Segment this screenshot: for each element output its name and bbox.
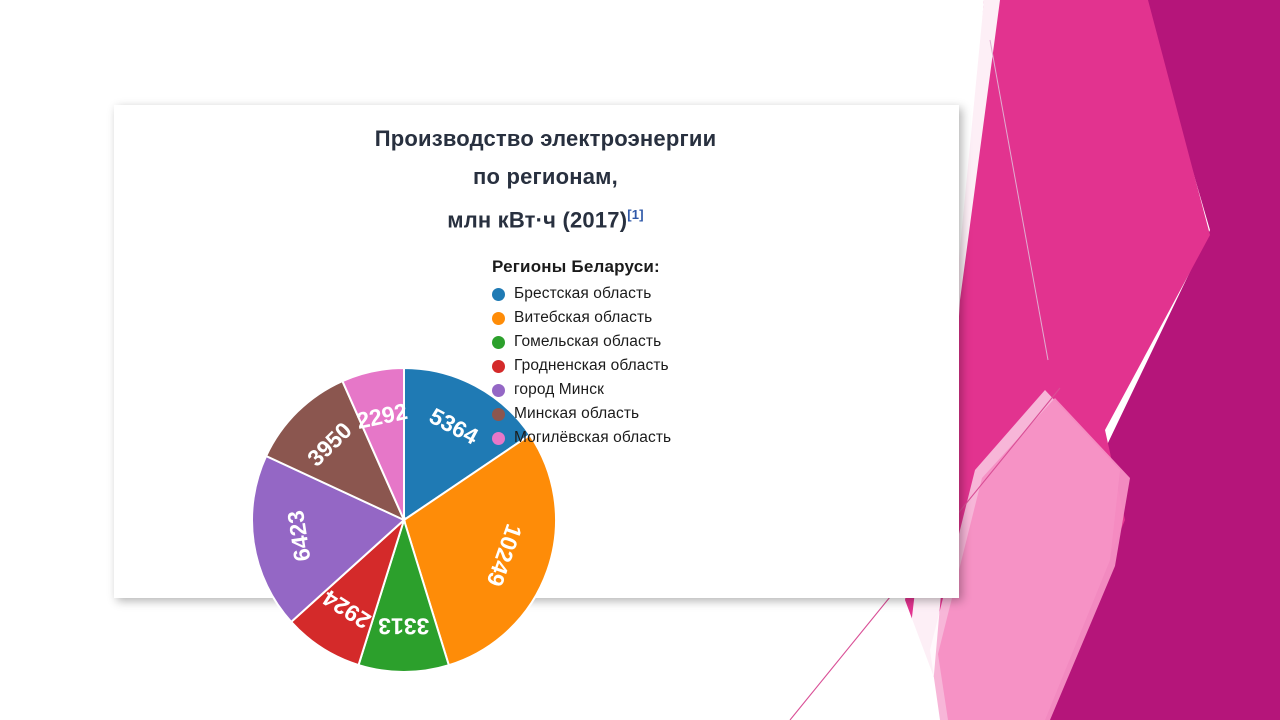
legend-color-swatch-icon xyxy=(492,336,505,349)
chart-title-line-3: млн кВт·ч (2017)[1] xyxy=(132,196,959,239)
legend-label: город Минск xyxy=(514,381,604,399)
decor-light-pink-wedge xyxy=(938,398,1130,720)
legend-title: Регионы Беларуси: xyxy=(492,257,792,277)
legend-label: Гомельская область xyxy=(514,333,661,351)
chart-title-line-2: по регионам, xyxy=(132,158,959,196)
chart-title-block: Производство электроэнергии по регионам,… xyxy=(114,120,959,239)
legend-color-swatch-icon xyxy=(492,288,505,301)
presentation-slide: Производство электроэнергии по регионам,… xyxy=(0,0,1280,720)
chart-title-line-3-text: млн кВт·ч (2017) xyxy=(447,207,627,232)
decor-hairline-diagonal-upper xyxy=(990,40,1048,360)
pie-slice-value-label: 3313 xyxy=(378,613,429,639)
legend-label: Гродненская область xyxy=(514,357,669,375)
legend-row[interactable]: Гродненская область xyxy=(492,354,792,378)
legend-label: Могилёвская область xyxy=(514,429,671,447)
legend-row-list: Брестская областьВитебская областьГомель… xyxy=(492,282,792,450)
chart-card: Производство электроэнергии по регионам,… xyxy=(114,105,959,598)
legend-row[interactable]: Могилёвская область xyxy=(492,426,792,450)
legend-label: Минская область xyxy=(514,405,639,423)
legend-row[interactable]: город Минск xyxy=(492,378,792,402)
legend-color-swatch-icon xyxy=(492,408,505,421)
legend-color-swatch-icon xyxy=(492,312,505,325)
legend-row[interactable]: Витебская область xyxy=(492,306,792,330)
legend-color-swatch-icon xyxy=(492,432,505,445)
legend-row[interactable]: Минская область xyxy=(492,402,792,426)
legend-label: Брестская область xyxy=(514,285,651,303)
reference-superscript[interactable]: [1] xyxy=(627,207,644,222)
legend-color-swatch-icon xyxy=(492,360,505,373)
chart-legend: Регионы Беларуси: Брестская областьВитеб… xyxy=(492,257,792,450)
chart-title-line-1: Производство электроэнергии xyxy=(132,120,959,158)
legend-color-swatch-icon xyxy=(492,384,505,397)
legend-row[interactable]: Брестская область xyxy=(492,282,792,306)
legend-row[interactable]: Гомельская область xyxy=(492,330,792,354)
decor-dark-magenta-band xyxy=(1020,0,1280,720)
legend-label: Витебская область xyxy=(514,309,652,327)
